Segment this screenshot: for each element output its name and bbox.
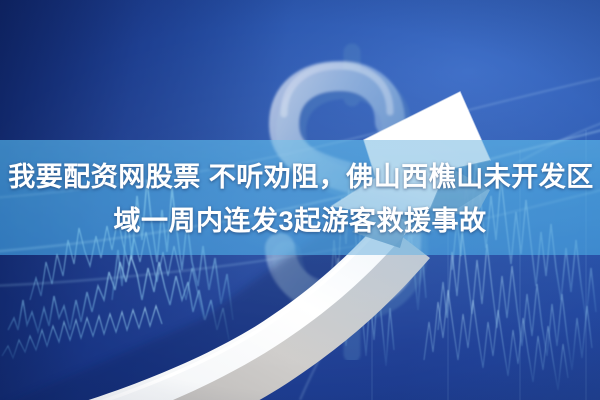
banner-image: 我要配资网股票 不听劝阻，佛山西樵山未开发区 域一周内连发3起游客救援事故: [0, 0, 600, 400]
headline-line-1: 我要配资网股票 不听劝阻，佛山西樵山未开发区: [0, 155, 600, 199]
headline-line-2: 域一周内连发3起游客救援事故: [0, 199, 600, 243]
headline: 我要配资网股票 不听劝阻，佛山西樵山未开发区 域一周内连发3起游客救援事故: [0, 155, 600, 243]
